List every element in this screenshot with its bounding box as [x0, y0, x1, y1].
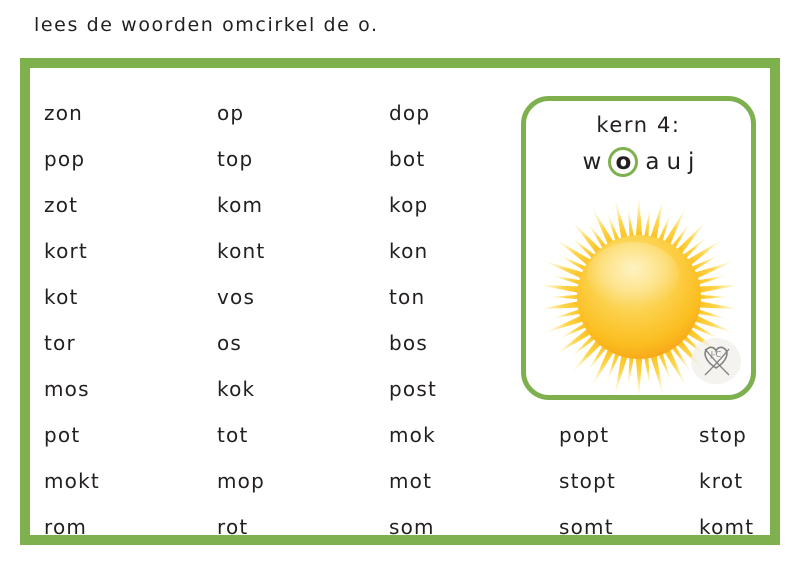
word-item[interactable]: kon	[389, 228, 437, 274]
sun-ray	[692, 258, 736, 280]
word-item[interactable]: post	[389, 366, 437, 412]
word-item[interactable]: kok	[217, 366, 265, 412]
kern-letter[interactable]: u	[666, 147, 681, 177]
word-item[interactable]: top	[217, 136, 265, 182]
kern-letter[interactable]: w	[583, 147, 602, 177]
word-item[interactable]: kop	[389, 182, 437, 228]
sun-ray	[697, 295, 730, 300]
word-item[interactable]: bos	[389, 320, 437, 366]
worksheet-frame: zonpopzotkortkottormospotmoktrom optopko…	[20, 58, 780, 545]
word-item[interactable]: somt	[559, 504, 616, 550]
word-item[interactable]: vos	[217, 274, 265, 320]
word-item[interactable]: tor	[44, 320, 100, 366]
word-item[interactable]: zon	[44, 90, 100, 136]
watermark-text: J-C	[710, 350, 722, 359]
word-item[interactable]: bot	[389, 136, 437, 182]
sun-ray	[548, 295, 581, 300]
word-item[interactable]: os	[217, 320, 265, 366]
word-item[interactable]: mot	[389, 458, 437, 504]
kern-card: kern 4: woauj	[521, 96, 756, 400]
sun-ray	[542, 314, 586, 336]
word-item[interactable]: kom	[217, 182, 265, 228]
word-column-5: stopkrotkomt	[699, 412, 754, 550]
word-item[interactable]: rom	[44, 504, 100, 550]
word-item[interactable]: pop	[44, 136, 100, 182]
word-item[interactable]: zot	[44, 182, 100, 228]
instruction-text: lees de woorden omcirkel de o.	[34, 14, 379, 36]
word-column-2: optopkomkontvososkoktotmoprot	[217, 90, 265, 550]
word-item[interactable]: ton	[389, 274, 437, 320]
sun-ray	[625, 206, 634, 239]
sun-ray	[643, 354, 652, 387]
word-item[interactable]: tot	[217, 412, 265, 458]
sun-ray	[692, 314, 736, 336]
word-item[interactable]: komt	[699, 504, 754, 550]
word-item[interactable]: mokt	[44, 458, 100, 504]
word-item[interactable]: pot	[44, 412, 100, 458]
word-column-4: poptstoptsomt	[559, 412, 616, 550]
word-item[interactable]: mos	[44, 366, 100, 412]
word-item[interactable]: popt	[559, 412, 616, 458]
word-column-3: dopbotkopkontonbospostmokmotsom	[389, 90, 437, 550]
word-column-1: zonpopzotkortkottormospotmoktrom	[44, 90, 100, 550]
watermark-logo: J-C	[689, 335, 743, 385]
kern-letter-row: woauj	[526, 147, 751, 177]
word-item[interactable]: rot	[217, 504, 265, 550]
word-item[interactable]: som	[389, 504, 437, 550]
sun-ray	[542, 258, 586, 280]
sun-ray	[635, 355, 642, 399]
sun-ray	[625, 354, 634, 387]
kern-letter-circled[interactable]: o	[608, 147, 638, 177]
sun-ray	[643, 206, 652, 239]
word-item[interactable]: stopt	[559, 458, 616, 504]
word-item[interactable]: op	[217, 90, 265, 136]
kern-title: kern 4:	[526, 113, 751, 137]
word-item[interactable]: dop	[389, 90, 437, 136]
word-item[interactable]: kont	[217, 228, 265, 274]
kern-letter[interactable]: a	[645, 147, 659, 177]
word-item[interactable]: kot	[44, 274, 100, 320]
kern-letter[interactable]: j	[688, 147, 694, 177]
word-item[interactable]: mop	[217, 458, 265, 504]
word-item[interactable]: kort	[44, 228, 100, 274]
word-item[interactable]: mok	[389, 412, 437, 458]
word-item[interactable]: krot	[699, 458, 754, 504]
word-item[interactable]: stop	[699, 412, 754, 458]
worksheet-sheet: zonpopzotkortkottormospotmoktrom optopko…	[30, 68, 770, 535]
sun-ray	[635, 195, 642, 239]
